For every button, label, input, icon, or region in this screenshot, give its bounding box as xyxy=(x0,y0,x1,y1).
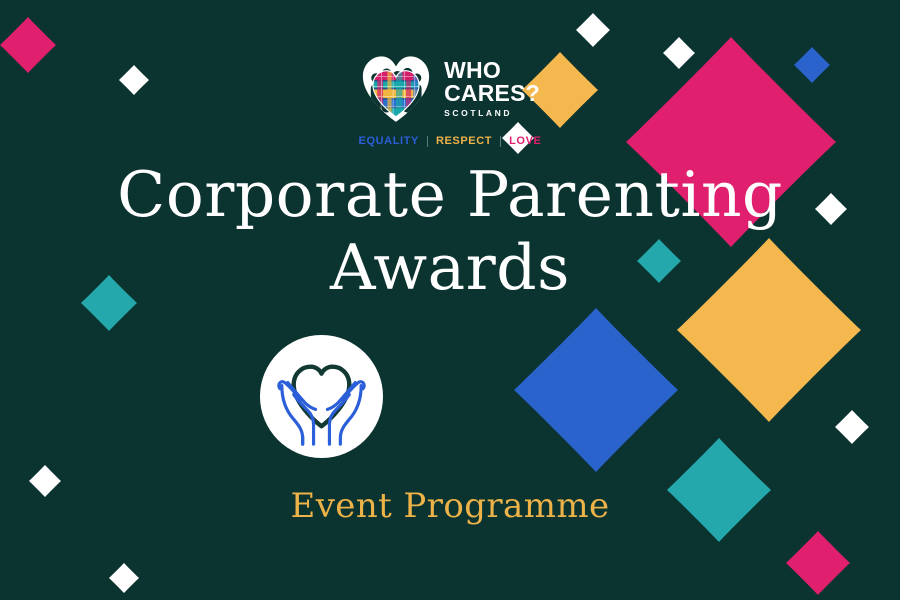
value-separator xyxy=(500,136,501,147)
logo-word-line1: WHO xyxy=(444,59,501,82)
who-cares-heart-logo-icon xyxy=(360,52,432,124)
title-line-1: Corporate Parenting xyxy=(0,158,900,231)
sparkle-blue-large-center xyxy=(514,308,678,472)
event-programme-label: Event Programme xyxy=(0,486,900,526)
sparkle-white-top-center xyxy=(576,13,610,47)
sparkle-pink-bottom-right xyxy=(786,531,850,595)
event-programme-poster: WHO CARES? SCOTLAND EQUALITYRESPECTLOVE … xyxy=(0,0,900,600)
logo-value-respect: RESPECT xyxy=(436,135,492,147)
logo-values-strapline: EQUALITYRESPECTLOVE xyxy=(359,135,542,147)
logo-value-equality: EQUALITY xyxy=(359,135,419,147)
hands-holding-heart-icon xyxy=(258,333,385,460)
sparkle-white-right-mid xyxy=(835,410,869,444)
value-separator xyxy=(427,136,428,147)
logo-subtitle: SCOTLAND xyxy=(444,109,512,118)
title-line-2: Awards xyxy=(0,231,900,304)
sparkle-white-bottom-left xyxy=(109,563,139,593)
logo-value-love: LOVE xyxy=(509,135,541,147)
who-cares-scotland-logo: WHO CARES? SCOTLAND EQUALITYRESPECTLOVE xyxy=(0,52,900,147)
logo-row: WHO CARES? SCOTLAND xyxy=(360,52,540,124)
page-title: Corporate Parenting Awards xyxy=(0,158,900,304)
logo-wordmark: WHO CARES? SCOTLAND xyxy=(444,59,540,117)
logo-word-line2: CARES? xyxy=(444,82,540,105)
